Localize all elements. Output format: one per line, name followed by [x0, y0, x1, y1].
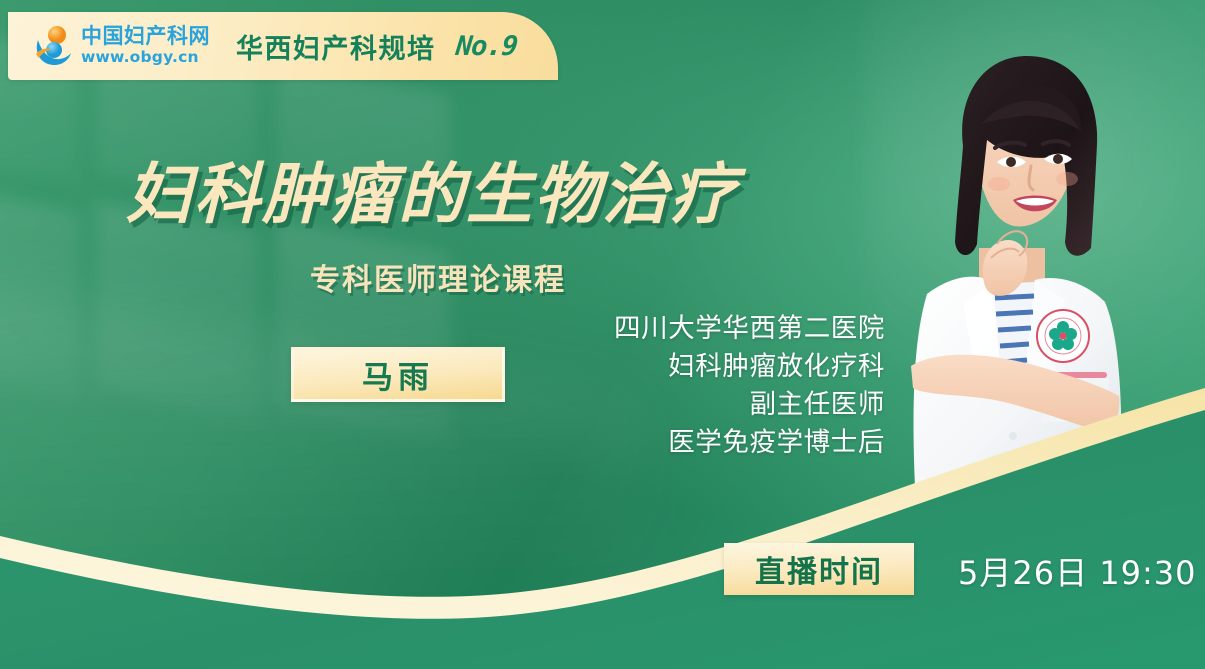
light-pane	[275, 219, 450, 443]
credential-line: 副主任医师	[565, 386, 885, 424]
speaker-name-badge: 马雨	[291, 347, 505, 402]
series-title: 华西妇产科规培	[236, 27, 436, 66]
floor-glow	[0, 270, 640, 669]
live-time-label: 直播时间	[755, 547, 883, 591]
page-title: 妇科肿瘤的生物治疗	[126, 162, 738, 228]
speaker-name: 马雨	[362, 352, 434, 397]
credential-line: 妇科肿瘤放化疗科	[565, 348, 885, 386]
logo-url-text: www.obgy.cn	[81, 50, 210, 66]
credential-line: 医学免疫学博士后	[565, 424, 885, 462]
speaker-credentials: 四川大学华西第二医院 妇科肿瘤放化疗科 副主任医师 医学免疫学博士后	[565, 310, 885, 462]
live-time-value: 5月26日 19:30	[958, 548, 1196, 594]
header-banner: 中国妇产科网 www.obgy.cn 华西妇产科规培 No.9	[8, 12, 558, 80]
live-time-badge: 直播时间	[724, 543, 914, 595]
live-session-poster: 中国妇产科网 www.obgy.cn 华西妇产科规培 No.9 妇科肿瘤的生物治…	[0, 0, 1205, 669]
page-subtitle: 专科医师理论课程	[310, 255, 566, 299]
credential-line: 四川大学华西第二医院	[565, 310, 885, 348]
site-logo[interactable]: 中国妇产科网 www.obgy.cn	[30, 24, 210, 68]
light-pane	[0, 183, 80, 397]
doctor-photo	[867, 36, 1157, 556]
logo-cn-text: 中国妇产科网	[81, 26, 210, 47]
episode-number: No.9	[454, 31, 518, 62]
obgy-person-logo-icon	[30, 24, 74, 68]
